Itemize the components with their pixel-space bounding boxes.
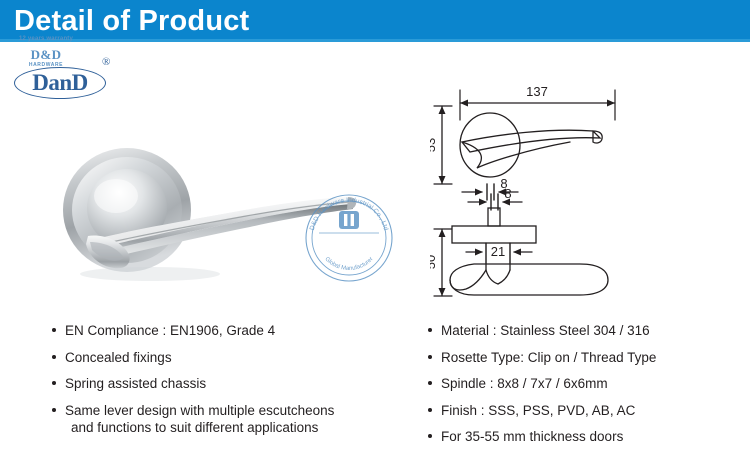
spec-text: Rosette Type: Clip on / Thread Type [441,350,656,365]
spec-text: Finish : SSS, PSS, PVD, AB, AC [441,403,635,418]
spec-text: Spring assisted chassis [65,376,206,391]
top-view-lever-upper [462,130,600,152]
spec-column-right: Material : Stainless Steel 304 / 316 Ros… [428,322,748,451]
bullet-icon [52,408,56,412]
list-item: Finish : SSS, PSS, PVD, AB, AC [428,402,748,419]
dim-8side-arrow-right [479,199,487,206]
seal-brand-subtext: HARDWARE [0,62,92,68]
spec-column-left: EN Compliance : EN1906, Grade 4 Conceale… [52,322,392,445]
dim-label-137: 137 [526,84,548,99]
list-item: Rosette Type: Clip on / Thread Type [428,349,748,366]
dim-50-arrow-bottom [439,288,446,296]
side-view-spindle [488,208,500,226]
dim-21-arrow-right [475,249,483,256]
seal-emblem-bar-left [344,214,347,226]
dim-label-53: 53 [430,138,438,152]
side-view-rosette-plate [452,226,536,243]
dim-50-arrow-top [439,229,446,237]
side-view-lever-neck-join [486,270,510,284]
spec-text: Same lever design with multiple escutche… [65,403,334,418]
photo-shadow [80,267,220,281]
dim-137-arrow-right [607,100,615,107]
bullet-icon [428,355,432,359]
spec-text: For 35-55 mm thickness doors [441,429,623,444]
dim-21-arrow-left [513,249,521,256]
bullet-icon [52,381,56,385]
spec-text: EN Compliance : EN1906, Grade 4 [65,323,275,338]
list-item: For 35-55 mm thickness doors [428,428,748,445]
seal-emblem-bar-right [351,214,354,226]
bullet-icon [428,434,432,438]
logo-text: DanD [18,70,102,96]
side-view-lever-left-curve [450,270,486,290]
list-item: Spring assisted chassis [52,375,392,392]
bullet-icon [428,408,432,412]
spec-text: Concealed fixings [65,350,172,365]
seal-bottom-text: Global Manufacturer [323,256,374,272]
bullet-icon [52,355,56,359]
specifications: EN Compliance : EN1906, Grade 4 Conceale… [0,322,750,451]
dim-53-arrow-top [439,106,446,114]
dim-label-8-side: 8 [504,186,511,201]
header-underline [0,39,750,42]
side-view-lever-body [450,264,608,295]
dim-label-21: 21 [491,244,505,259]
seal-brand-text: D&D [0,47,92,63]
registered-trademark-icon: ® [102,56,110,68]
product-detail-page: Detail of Product DanD ® [0,0,750,451]
watermark-seal: D&D Hardware Industrial Co., Ltd Global … [303,192,395,284]
list-item: Concealed fixings [52,349,392,366]
bullet-icon [428,328,432,332]
list-item: EN Compliance : EN1906, Grade 4 [52,322,392,339]
bullet-icon [428,381,432,385]
dim-53-arrow-bottom [439,176,446,184]
seal-emblem [339,211,359,229]
page-title: Detail of Product [14,4,249,38]
dim-label-50: 50 [430,255,438,269]
dim-8top-arrow-right [475,189,483,196]
seal-warranty-text: 12 years warranty [0,36,92,42]
top-view-lever-under [462,142,570,168]
spec-text: Spindle : 8x8 / 7x7 / 6x6mm [441,376,608,391]
spec-text-continued: and functions to suit different applicat… [65,419,392,436]
list-item: Material : Stainless Steel 304 / 316 [428,322,748,339]
technical-drawings: 137 53 8 8 21 50 [430,74,745,309]
list-item: Same lever design with multiple escutche… [52,402,392,436]
bullet-icon [52,328,56,332]
list-item: Spindle : 8x8 / 7x7 / 6x6mm [428,375,748,392]
spec-text: Material : Stainless Steel 304 / 316 [441,323,650,338]
dim-137-arrow-left [460,100,468,107]
rosette-highlight [94,179,138,213]
